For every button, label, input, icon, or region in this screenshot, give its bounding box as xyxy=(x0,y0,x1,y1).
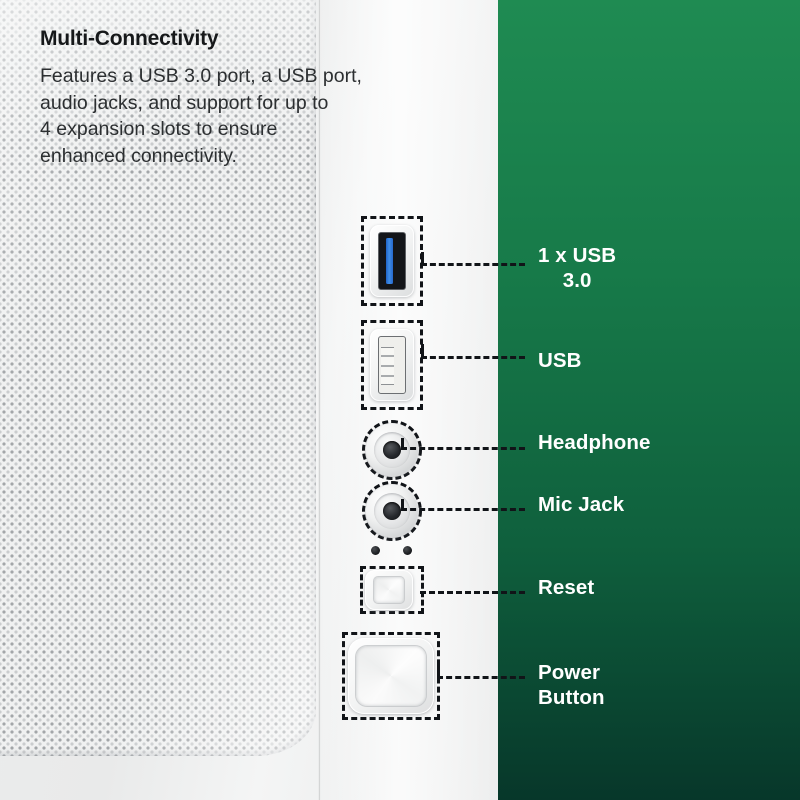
usb-contact-tongue xyxy=(381,347,394,385)
callout-label-mic: Mic Jack xyxy=(538,492,624,517)
callout-label-headphone: Headphone xyxy=(538,430,651,455)
leader-line-reset xyxy=(420,591,525,594)
usb-mouth xyxy=(378,336,406,394)
usb-3-0-mouth xyxy=(378,232,406,290)
leader-line-mic xyxy=(401,508,525,511)
callout-label-reset: Reset xyxy=(538,575,594,600)
callout-label-usb: USB xyxy=(538,348,582,373)
leader-line-usb-3-0 xyxy=(421,263,525,266)
usb-pin xyxy=(381,355,394,357)
usb-pin xyxy=(381,375,394,377)
description-text: Features a USB 3.0 port, a USB port, aud… xyxy=(40,63,460,169)
page-title: Multi-Connectivity xyxy=(40,27,218,51)
usb-3-0-shell xyxy=(370,225,414,297)
led-indicator xyxy=(371,546,380,555)
usb-pin xyxy=(381,365,394,367)
headphone-jack-hole xyxy=(383,441,401,459)
mic-jack-hole xyxy=(383,502,401,520)
usb-3-0-blue-insert xyxy=(386,238,393,284)
leader-stub-power xyxy=(437,664,440,676)
usb-shell xyxy=(370,329,414,401)
callout-label-usb-3-0: 1 x USB 3.0 xyxy=(538,243,616,293)
led-indicator xyxy=(403,546,412,555)
infographic-canvas: Multi-Connectivity Features a USB 3.0 po… xyxy=(0,0,800,800)
leader-line-usb xyxy=(421,356,525,359)
leader-line-headphone xyxy=(401,447,525,450)
callout-label-power: Power Button xyxy=(538,660,605,710)
leader-line-power xyxy=(437,676,525,679)
leader-stub-usb xyxy=(421,344,424,356)
reset-button-cap[interactable] xyxy=(374,577,404,603)
power-button-cap[interactable] xyxy=(356,646,426,706)
